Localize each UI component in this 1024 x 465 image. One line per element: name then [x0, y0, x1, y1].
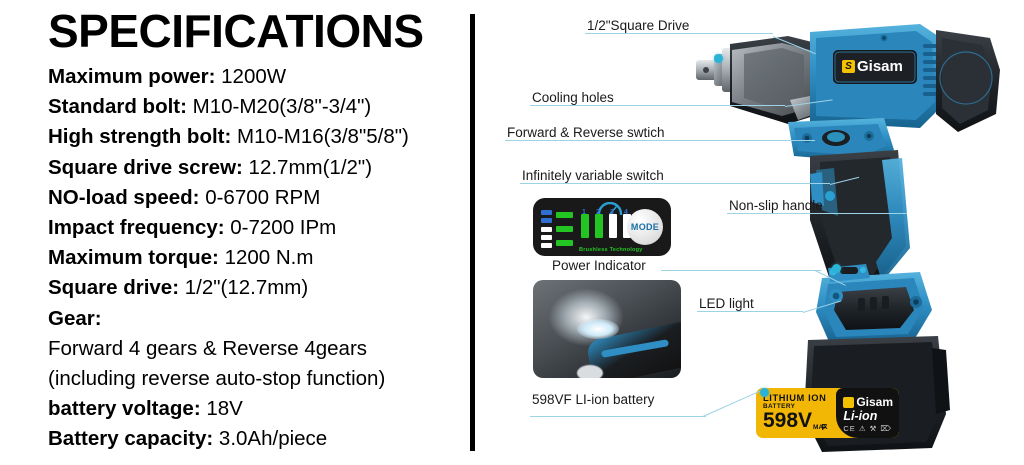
callout-label: 598VF LI-ion battery	[530, 392, 700, 407]
page-title: SPECIFICATIONS	[48, 8, 424, 54]
callout-liion-battery: 598VF LI-ion battery	[530, 392, 700, 407]
battery-segment	[541, 218, 552, 223]
battery-liion-text: Li-ion	[843, 410, 893, 423]
battery-voltage: 598V MAX F	[763, 411, 836, 431]
battery-brand-name: Gisam	[856, 395, 893, 409]
led-light-inset-photo	[533, 280, 681, 378]
spec-value: 12.7mm(1/2")	[249, 156, 372, 179]
tool-brand-name: Gisam	[857, 58, 903, 75]
spec-row: battery voltage: 18V	[48, 394, 463, 424]
spec-row: Standard bolt: M10-M20(3/8"-3/4")	[48, 92, 463, 122]
spec-row: Forward 4 gears & Reverse 4gears	[48, 334, 463, 364]
battery-segments	[541, 210, 552, 248]
spec-key: Square drive:	[48, 276, 179, 299]
callout-label: Cooling holes	[530, 90, 785, 105]
spec-value: 0-7200 IPm	[230, 216, 336, 239]
callout-underline	[505, 140, 815, 141]
impact-wrench-illustration: S Gisam LITHIUM ION BATTERY 598V MAX F	[670, 10, 1024, 460]
battery-segment	[541, 210, 552, 215]
spec-value: 1200 N.m	[225, 246, 314, 269]
gear-indicators: 1 2 3 4	[581, 210, 633, 244]
spec-key: High strength bolt:	[48, 125, 231, 148]
callout-forward-reverse-switch: Forward & Reverse swtich	[505, 125, 815, 141]
specifications-list: Maximum power: 1200W Standard bolt: M10-…	[48, 62, 463, 455]
spec-key: NO-load speed:	[48, 186, 200, 209]
battery-voltage-f: F	[822, 423, 827, 431]
inset-workpiece	[577, 365, 603, 378]
callout-label: Forward & Reverse swtich	[505, 125, 815, 140]
spec-value: 1/2"(12.7mm)	[185, 276, 308, 299]
battery-segment	[541, 227, 552, 232]
callout-underline	[520, 183, 830, 184]
spec-value: M10-M16(3/8"5/8")	[237, 125, 409, 148]
spec-key: Battery capacity:	[48, 427, 213, 450]
battery-segment	[541, 235, 552, 240]
battery-level-indicator	[541, 210, 573, 248]
mode-button-label: MODE	[631, 222, 659, 232]
gear-bar	[595, 214, 603, 238]
battery-brand: Gisam	[843, 395, 893, 409]
spec-row: Gear:	[48, 304, 463, 334]
callout-underline	[727, 213, 907, 214]
callout-underline	[697, 311, 803, 312]
specifications-panel: SPECIFICATIONS Maximum power: 1200W Stan…	[0, 0, 470, 465]
spec-value: 3.0Ah/piece	[219, 427, 327, 450]
brushless-technology-label: Brushless Technology	[579, 247, 643, 253]
gear-bar	[609, 214, 617, 238]
spec-row: High strength bolt: M10-M16(3/8"5/8")	[48, 122, 463, 152]
callout-underline	[585, 33, 773, 34]
spec-key: Impact frequency:	[48, 216, 225, 239]
spec-row: (including reverse auto-stop function)	[48, 364, 463, 394]
callout-label: Non-slip handle	[727, 198, 907, 213]
certification-marks: CE ⚠ ⚒ ⌦	[843, 424, 893, 433]
gisam-mark-icon	[843, 397, 854, 408]
callout-label: 1/2"Square Drive	[585, 18, 773, 33]
mode-button[interactable]: MODE	[627, 209, 663, 245]
callout-led-light: LED light	[697, 296, 803, 312]
callout-label: LED light	[697, 296, 803, 311]
callout-dot	[832, 264, 841, 273]
spec-value: M10-M20(3/8"-3/4")	[193, 95, 372, 118]
tool-brand-logo: S Gisam	[842, 58, 903, 75]
power-bar	[556, 212, 573, 218]
spec-key: Maximum power:	[48, 65, 215, 88]
product-diagram: S Gisam LITHIUM ION BATTERY 598V MAX F	[475, 0, 1024, 465]
spec-key: Standard bolt:	[48, 95, 187, 118]
spec-key: battery voltage:	[48, 397, 201, 420]
callout-underline	[530, 105, 785, 106]
spec-row: Maximum torque: 1200 N.m	[48, 243, 463, 273]
spec-row: Square drive: 1/2"(12.7mm)	[48, 273, 463, 303]
battery-label: LITHIUM ION BATTERY 598V MAX F Gisam Li-…	[756, 388, 899, 438]
battery-label-right: Gisam Li-ion CE ⚠ ⚒ ⌦	[836, 388, 899, 438]
power-bar	[556, 240, 573, 246]
spec-value: 0-6700 RPM	[205, 186, 320, 209]
callout-cooling-holes: Cooling holes	[530, 90, 785, 106]
spec-value: 18V	[206, 397, 242, 420]
battery-segment	[541, 243, 552, 248]
callout-square-drive: 1/2"Square Drive	[585, 18, 773, 34]
callout-label: Infinitely variable switch	[520, 168, 830, 183]
callout-dot	[714, 54, 723, 63]
spec-value: 1200W	[221, 65, 286, 88]
control-panel-graphic: 1 2 3 4 Brushless Technology MODE	[533, 198, 671, 256]
gear-bar	[581, 214, 589, 238]
spec-key: Gear:	[48, 307, 102, 330]
spec-value: Forward 4 gears & Reverse 4gears	[48, 337, 367, 360]
callout-infinitely-variable-switch: Infinitely variable switch	[520, 168, 830, 184]
battery-chemistry-text: LITHIUM ION	[763, 393, 836, 403]
battery-label-left: LITHIUM ION BATTERY 598V MAX F	[756, 388, 836, 438]
battery-voltage-value: 598V	[763, 411, 812, 431]
spec-row: NO-load speed: 0-6700 RPM	[48, 183, 463, 213]
callout-leader-line	[661, 270, 821, 271]
power-bars	[556, 212, 573, 246]
spec-row: Square drive screw: 12.7mm(1/2")	[48, 153, 463, 183]
spec-key: Maximum torque:	[48, 246, 219, 269]
specification-image: SPECIFICATIONS Maximum power: 1200W Stan…	[0, 0, 1024, 465]
spec-value: (including reverse auto-stop function)	[48, 367, 385, 390]
spec-row: Battery capacity: 3.0Ah/piece	[48, 424, 463, 454]
power-bar	[556, 226, 573, 232]
spec-row: Impact frequency: 0-7200 IPm	[48, 213, 463, 243]
callout-leader-line	[530, 416, 706, 417]
gisam-mark-icon: S	[842, 60, 855, 73]
callout-non-slip-handle: Non-slip handle	[727, 198, 907, 214]
spec-key: Square drive screw:	[48, 156, 243, 179]
callout-dot	[760, 388, 769, 397]
spec-row: Maximum power: 1200W	[48, 62, 463, 92]
